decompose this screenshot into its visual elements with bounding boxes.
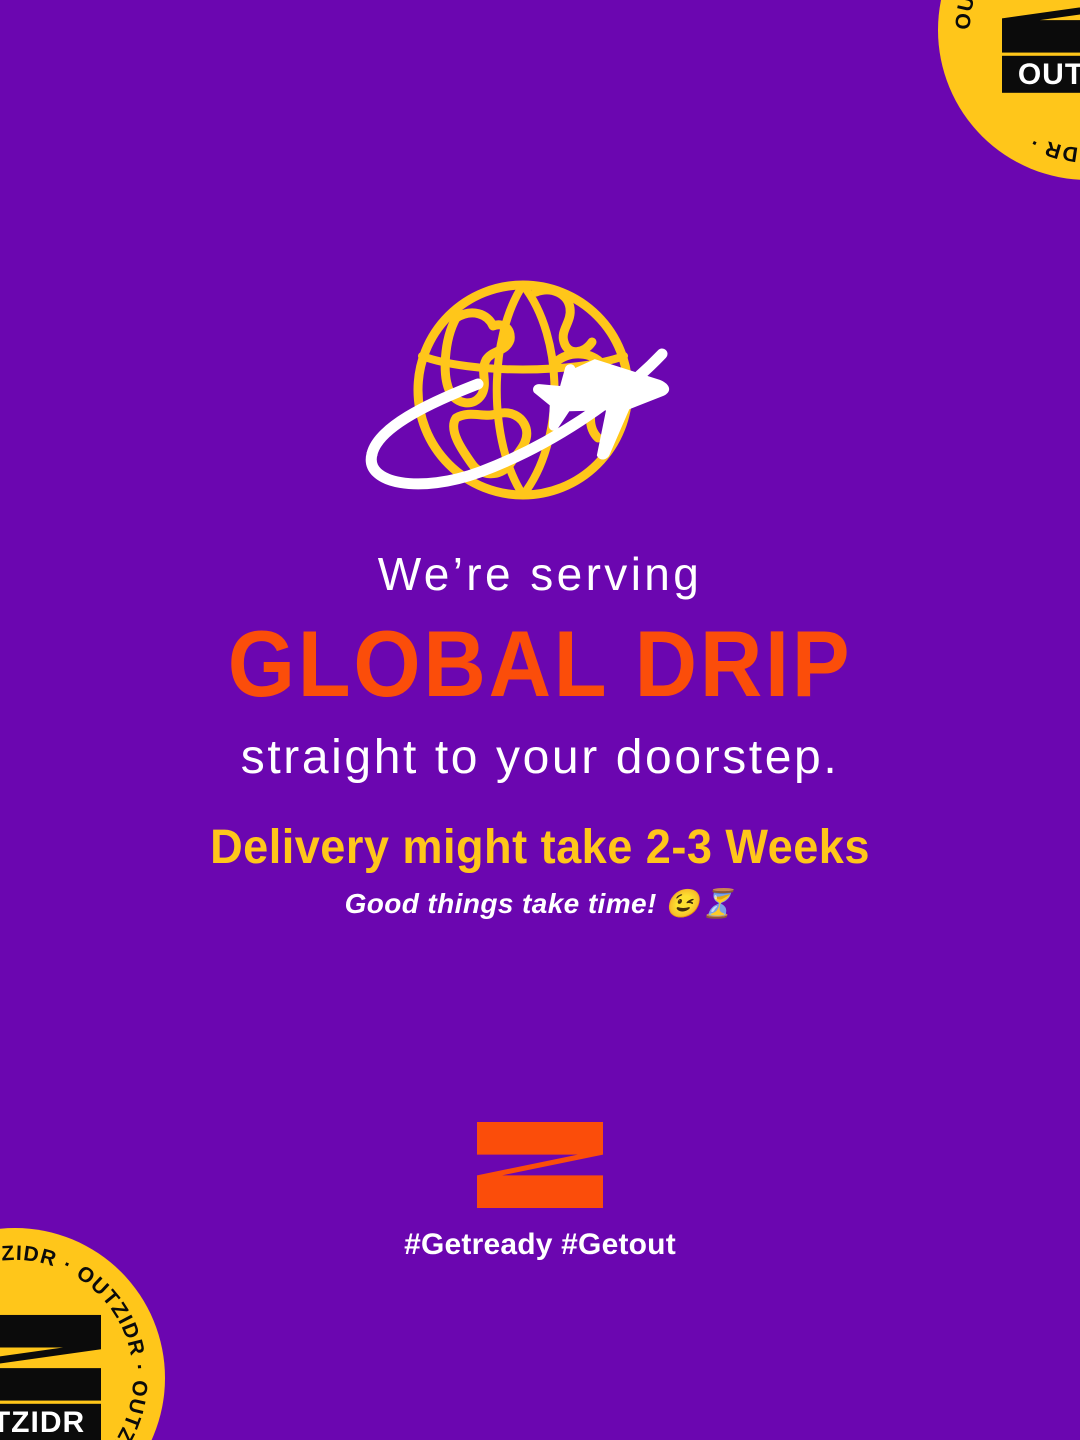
- headline-post: straight to your doorstep.: [0, 730, 1080, 785]
- delivery-subline: Good things take time! 😉⏳: [0, 887, 1080, 920]
- badge-z-mark: OUTZIDR: [0, 1315, 101, 1440]
- headline-hero: GLOBAL DRIP: [43, 611, 1037, 716]
- badge-wordmark: OUTZIDR: [1002, 56, 1080, 93]
- globe-airplane-illustration: [0, 278, 1080, 508]
- badge-z-glyph: [0, 1315, 101, 1401]
- outzidr-z-logo-icon: [477, 1122, 603, 1208]
- delivery-headline: Delivery might take 2-3 Weeks: [32, 820, 1047, 875]
- footer-hashtags: #Getready #Getout: [0, 1228, 1080, 1262]
- globe-airplane-icon: [360, 278, 720, 508]
- footer-brand-block: #Getready #Getout: [0, 1122, 1080, 1262]
- promo-poster: OUTZIDR · OUTZIDR · OUTZIDR · OUTZIDR · …: [0, 0, 1080, 1440]
- delivery-notice: Delivery might take 2-3 Weeks Good thing…: [0, 820, 1080, 920]
- badge-wordmark: OUTZIDR: [0, 1404, 101, 1440]
- badge-z-mark: OUTZIDR: [1002, 0, 1080, 93]
- headline-block: We’re serving GLOBAL DRIP straight to yo…: [0, 548, 1080, 785]
- badge-z-glyph: [1002, 0, 1080, 53]
- headline-pre: We’re serving: [0, 548, 1080, 601]
- brand-badge-top-right: OUTZIDR · OUTZIDR · OUTZIDR · OUTZIDR · …: [938, 0, 1080, 180]
